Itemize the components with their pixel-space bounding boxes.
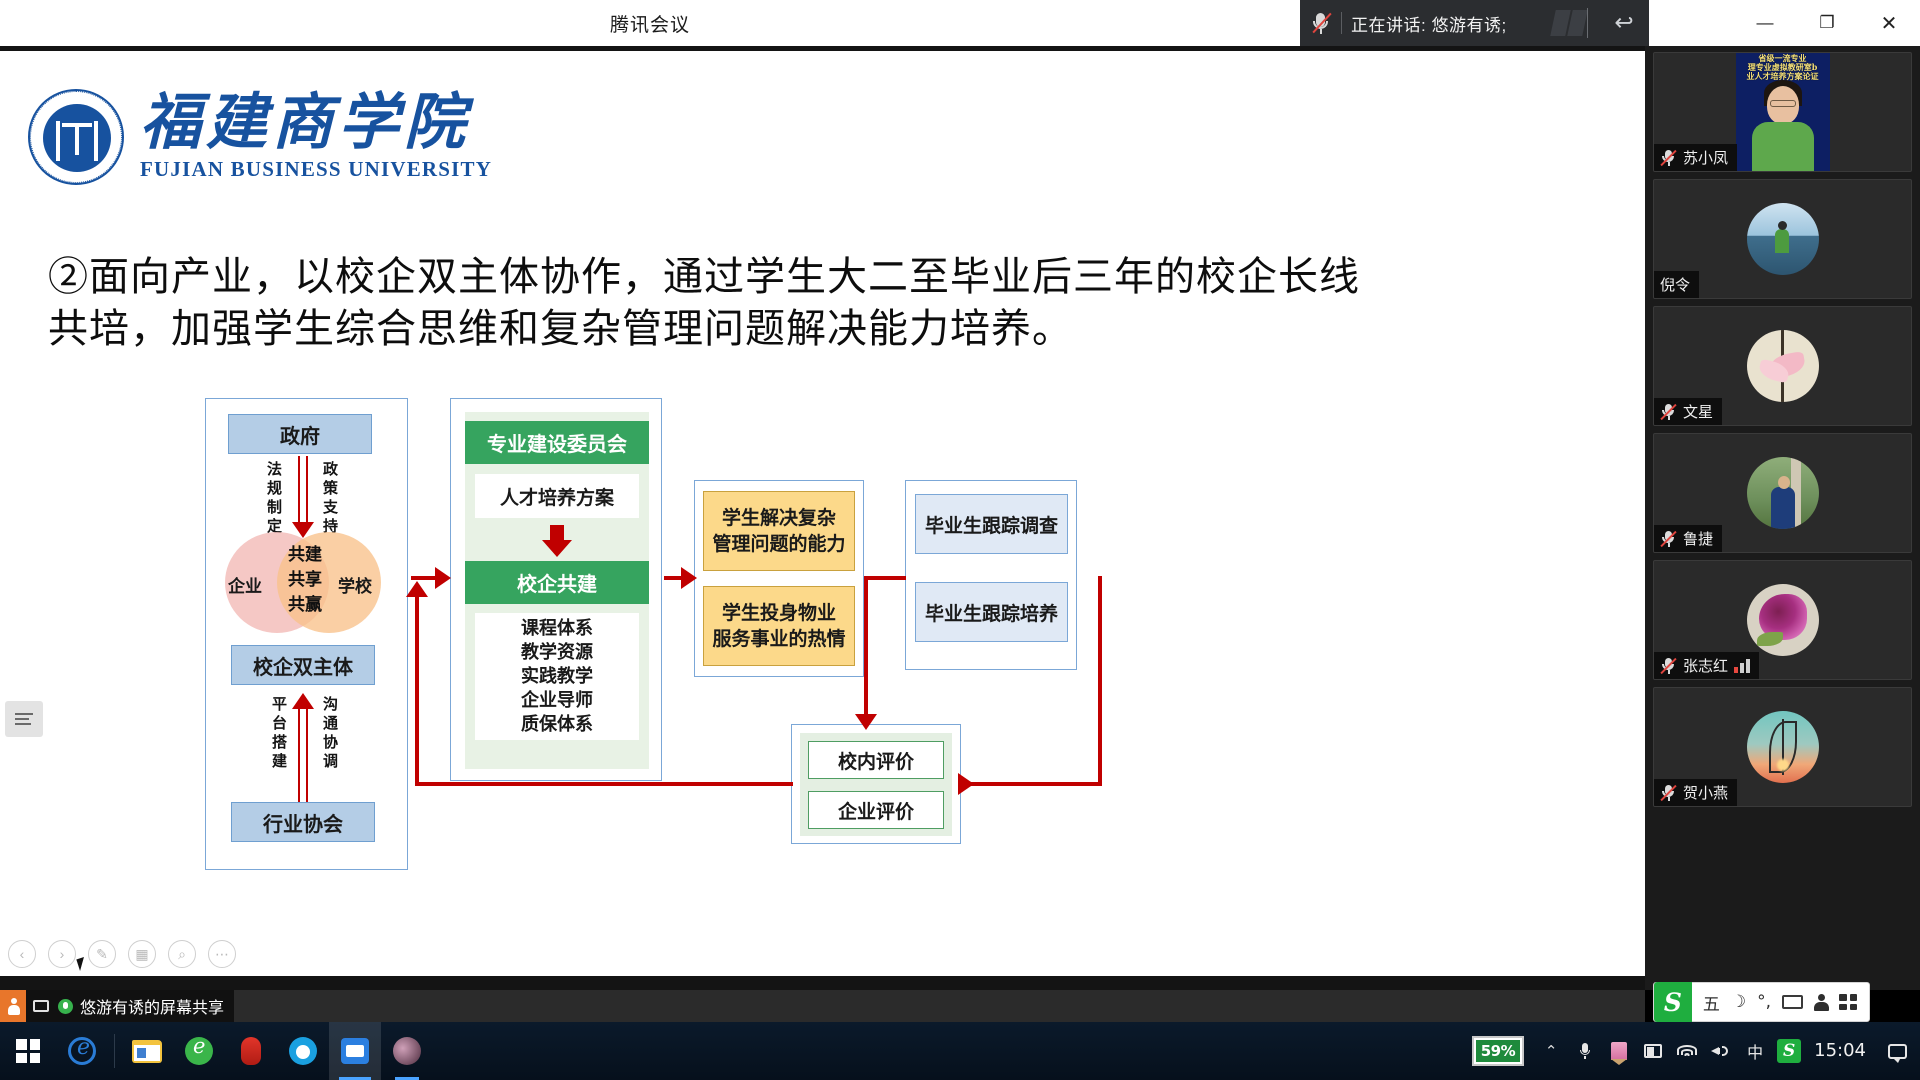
speaking-status-text: 正在讲话: 悠游有诱; xyxy=(1351,11,1507,36)
diagram-box-talent-plan: 人才培养方案 xyxy=(475,474,639,518)
diagram-item-mentors: 企业导师 xyxy=(521,689,593,713)
window-controls: — ❐ ✕ xyxy=(1649,0,1920,46)
meeting-window: 腾讯会议 正在讲话: 悠游有诱; ↩ — ❐ ✕ xyxy=(0,0,1920,1080)
diagram-label-policy: 政策支持 xyxy=(322,461,337,537)
windows-start-icon[interactable] xyxy=(0,1022,56,1080)
diagram-item-quality: 质保体系 xyxy=(521,713,593,737)
internet-explorer-icon[interactable] xyxy=(56,1022,108,1080)
participant-name: 苏小凤 xyxy=(1683,147,1728,168)
connector-arrow-up-loop xyxy=(406,581,428,597)
diagram-label-regulation: 法规制定 xyxy=(266,461,281,537)
participant-name-badge: 鲁捷 xyxy=(1654,525,1722,552)
university-name: 福建商学院 FUJIAN BUSINESS UNIVERSITY xyxy=(140,92,492,182)
university-logo: 福建商学院 FUJIAN BUSINESS UNIVERSITY xyxy=(28,89,492,185)
qq-icon[interactable] xyxy=(277,1022,329,1080)
presentation-slide: 福建商学院 FUJIAN BUSINESS UNIVERSITY ②面向产业，以… xyxy=(0,51,1645,976)
participant-tile[interactable]: 文星 xyxy=(1653,306,1912,426)
magnifier-icon[interactable]: ⌕ xyxy=(168,940,196,968)
participant-name-badge: 文星 xyxy=(1654,398,1722,425)
signal-bars-icon xyxy=(1734,659,1750,673)
divider xyxy=(114,1034,115,1068)
university-name-cn: 福建商学院 xyxy=(140,92,492,153)
mic-icon[interactable] xyxy=(1568,1022,1602,1080)
pen-icon[interactable] xyxy=(1602,1022,1636,1080)
close-button[interactable]: ✕ xyxy=(1858,0,1920,46)
diagram-box-committee: 专业建设委员会 xyxy=(465,421,649,464)
diagram-box-complex-ability: 学生解决复杂 管理问题的能力 xyxy=(703,491,855,571)
connector-blue-to-eval xyxy=(970,782,1100,786)
tencent-meeting-icon[interactable] xyxy=(329,1022,381,1080)
minimize-button[interactable]: — xyxy=(1734,0,1796,46)
participant-sidebar[interactable]: 省级一流专业理专业虚拟教研室b业人才培养方案论证 苏小凤 倪令 文星 xyxy=(1645,46,1920,990)
arrow-up-association xyxy=(298,708,308,802)
connector-arrow-into-eval-right xyxy=(958,773,974,795)
speaking-status-area: 正在讲话: 悠游有诱; ↩ xyxy=(1300,0,1649,46)
connector-eval-left-up xyxy=(415,594,419,784)
connector-arrow-into-eval-top xyxy=(855,714,877,730)
wifi-icon[interactable] xyxy=(1670,1022,1704,1080)
undo-arrow-icon[interactable]: ↩ xyxy=(1609,9,1639,35)
avatar: 省级一流专业理专业虚拟教研室b业人才培养方案论证 xyxy=(1736,52,1830,172)
participant-tile[interactable]: 鲁捷 xyxy=(1653,433,1912,553)
file-explorer-icon[interactable] xyxy=(121,1022,173,1080)
mic-muted-icon xyxy=(1660,529,1677,548)
diagram-box-graduate-training: 毕业生跟踪培养 xyxy=(915,582,1068,642)
participant-name: 文星 xyxy=(1683,401,1713,422)
diagram-item-practice: 实践教学 xyxy=(521,665,593,689)
diagram-followup-panel: 毕业生跟踪调查 毕业生跟踪培养 xyxy=(905,480,1077,670)
monitor-icon xyxy=(32,997,50,1015)
360-browser-icon[interactable] xyxy=(173,1022,225,1080)
app-title: 腾讯会议 xyxy=(0,0,1300,46)
participant-tile[interactable]: 贺小燕 xyxy=(1653,687,1912,807)
outcome-1-line-1: 学生解决复杂 xyxy=(722,505,836,531)
chevron-right-icon[interactable]: › xyxy=(48,940,76,968)
outcome-2-line-1: 学生投身物业 xyxy=(722,600,836,626)
title-bar-left: 腾讯会议 xyxy=(0,0,1300,46)
outcome-1-line-2: 管理问题的能力 xyxy=(712,531,845,557)
ime-language-indicator[interactable]: 中 xyxy=(1738,1022,1772,1080)
share-label: 悠游有诱的屏幕共享 xyxy=(80,994,224,1018)
chevron-left-icon[interactable]: ‹ xyxy=(8,940,36,968)
participant-name: 张志红 xyxy=(1683,655,1728,676)
video-overlay-text: 省级一流专业理专业虚拟教研室b业人才培养方案论证 xyxy=(1736,54,1830,81)
participant-name: 鲁捷 xyxy=(1683,528,1713,549)
arrow-head-up-association xyxy=(292,693,314,709)
university-name-en: FUJIAN BUSINESS UNIVERSITY xyxy=(140,157,492,182)
apps-grid-icon[interactable] xyxy=(1839,994,1857,1010)
diagram-evaluation-panel: 校内评价 企业评价 xyxy=(791,724,961,844)
pen-icon[interactable]: ✎ xyxy=(88,940,116,968)
participant-tile[interactable]: 省级一流专业理专业虚拟教研室b业人才培养方案论证 苏小凤 xyxy=(1653,52,1912,172)
battery-indicator[interactable]: 59% xyxy=(1472,1036,1524,1066)
connector-orange-to-blue-h xyxy=(864,576,906,580)
diagram-box-coconstruct: 校企共建 xyxy=(465,561,649,604)
share-chip[interactable]: 悠游有诱的屏幕共享 xyxy=(0,990,234,1022)
ppt-navigation-toolbar: ‹ › ✎ ▦ ⌕ ⋯ xyxy=(8,940,236,968)
connector-eval-left xyxy=(415,782,793,786)
avatar xyxy=(1747,711,1819,783)
diagram-item-resources: 教学资源 xyxy=(521,641,593,665)
diagram-middle-panel: 专业建设委员会 人才培养方案 校企共建 课程体系 教学资源 实践教学 企业导师 … xyxy=(450,398,662,781)
mic-active-icon xyxy=(56,997,74,1015)
diagram-box-enthusiasm: 学生投身物业 服务事业的热情 xyxy=(703,586,855,666)
avatar xyxy=(1747,330,1819,402)
diagram-box-graduate-survey: 毕业生跟踪调查 xyxy=(915,494,1068,554)
diagram-outcome-panel: 学生解决复杂 管理问题的能力 学生投身物业 服务事业的热情 xyxy=(694,480,864,677)
shared-screen-stage: 福建商学院 FUJIAN BUSINESS UNIVERSITY ②面向产业，以… xyxy=(0,46,1645,990)
battery-percent: 59% xyxy=(1476,1040,1520,1062)
participant-name: 贺小燕 xyxy=(1683,782,1728,803)
divider xyxy=(1341,12,1342,34)
photo-app-icon[interactable] xyxy=(381,1022,433,1080)
maximize-button[interactable]: ❐ xyxy=(1796,0,1858,46)
diagram-box-internal-eval: 校内评价 xyxy=(808,741,944,779)
connector-blue-right-down xyxy=(1098,576,1102,786)
screen-share-bar: 悠游有诱的屏幕共享 xyxy=(0,990,1645,1022)
ime-mode-label[interactable]: 五 xyxy=(1703,990,1720,1015)
connector-arrow-into-orange xyxy=(681,567,697,589)
venn-label-enterprise: 企业 xyxy=(228,572,262,597)
participant-tile[interactable]: 张志红 xyxy=(1653,560,1912,680)
participant-name-badge: 张志红 xyxy=(1654,652,1759,679)
moon-icon[interactable]: ☽ xyxy=(1731,992,1746,1012)
diagram-label-platform: 平台搭建 xyxy=(271,696,286,772)
diagram-venn: 企业 学校 共建共享共赢 xyxy=(225,532,381,633)
windows-taskbar: 59% ⌃ 中 S 15:04 xyxy=(0,1022,1920,1080)
diagram-box-dual-subject: 校企双主体 xyxy=(231,645,375,685)
ime-toolbar[interactable]: S 五 ☽ °, xyxy=(1653,982,1870,1022)
volume-icon[interactable] xyxy=(1704,1022,1738,1080)
avatar xyxy=(1747,203,1819,275)
keyboard-icon[interactable] xyxy=(1782,995,1803,1009)
decorative-shapes-icon xyxy=(1553,8,1597,38)
diagram-box-association: 行业协会 xyxy=(231,802,375,842)
connector-orange-down xyxy=(864,576,868,726)
mic-muted-icon xyxy=(1660,148,1677,167)
participant-name-badge: 贺小燕 xyxy=(1654,779,1737,806)
wps-icon[interactable] xyxy=(225,1022,277,1080)
sogou-tray-icon[interactable]: S xyxy=(1772,1022,1806,1080)
diagram-label-communication: 沟通协调 xyxy=(322,696,337,772)
tray-expand-icon[interactable]: ⌃ xyxy=(1534,1022,1568,1080)
person-icon xyxy=(0,990,26,1022)
arrow-down-middle-head xyxy=(542,540,572,557)
title-bar: 腾讯会议 正在讲话: 悠游有诱; ↩ — ❐ ✕ xyxy=(0,0,1920,46)
system-tray: 59% ⌃ 中 S 15:04 xyxy=(1472,1022,1920,1080)
taskbar-clock[interactable]: 15:04 xyxy=(1806,1022,1880,1080)
sogou-logo-icon[interactable]: S xyxy=(1654,982,1692,1022)
user-icon[interactable] xyxy=(1814,994,1828,1010)
participant-name-badge: 倪令 xyxy=(1654,271,1699,298)
mic-muted-icon xyxy=(1660,656,1677,675)
mic-muted-icon xyxy=(1660,783,1677,802)
participant-name: 倪令 xyxy=(1660,274,1690,295)
participant-tile[interactable]: 倪令 xyxy=(1653,179,1912,299)
slide-diagram: 政府 法规制定 政策支持 企业 学校 共建共享共赢 校企双主体 平台搭建 沟通协… xyxy=(0,381,1645,891)
venn-label-school: 学校 xyxy=(338,572,372,597)
notification-icon[interactable] xyxy=(1880,1022,1914,1080)
screen-icon[interactable] xyxy=(1636,1022,1670,1080)
diagram-box-enterprise-eval: 企业评价 xyxy=(808,791,944,829)
slide-menu-icon[interactable] xyxy=(5,701,43,737)
more-options-icon[interactable]: ⋯ xyxy=(208,940,236,968)
slide-heading: ②面向产业，以校企双主体协作，通过学生大二至毕业后三年的校企长线共培，加强学生综… xyxy=(48,251,1368,355)
slides-grid-icon[interactable]: ▦ xyxy=(128,940,156,968)
mic-muted-icon xyxy=(1660,402,1677,421)
arrow-down-government xyxy=(298,456,308,526)
punctuation-label[interactable]: °, xyxy=(1757,992,1771,1012)
university-seal-icon xyxy=(28,89,124,185)
diagram-box-items: 课程体系 教学资源 实践教学 企业导师 质保体系 xyxy=(475,613,639,740)
avatar xyxy=(1747,457,1819,529)
avatar xyxy=(1747,584,1819,656)
diagram-item-curriculum: 课程体系 xyxy=(521,617,593,641)
participant-name-badge: 苏小凤 xyxy=(1654,144,1737,171)
mic-muted-icon xyxy=(1310,10,1332,36)
outcome-2-line-2: 服务事业的热情 xyxy=(712,626,845,652)
venn-label-center: 共建共享共赢 xyxy=(275,543,335,618)
diagram-box-government: 政府 xyxy=(228,414,372,454)
connector-arrow-into-middle xyxy=(435,567,451,589)
